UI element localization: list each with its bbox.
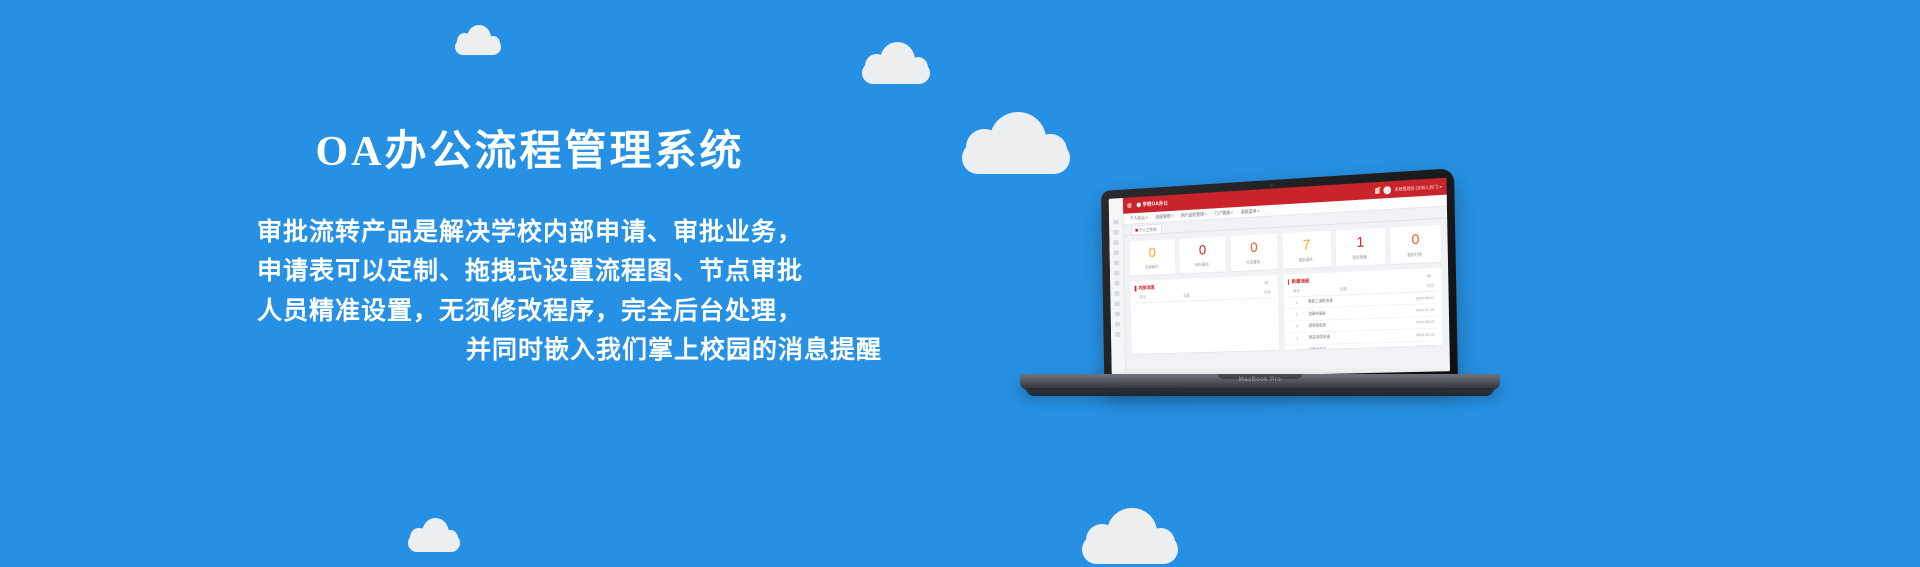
stat-card[interactable]: 0 我的归档 :: [1390, 225, 1441, 264]
column-header: 标题: [1151, 291, 1223, 303]
stat-card[interactable]: 7 我的请求 :: [1282, 231, 1331, 269]
laptop-screen: 学校OA办公 系统管理员 (未知人员门) ▾ 个人办公▾ 流程管理▾ 用户组织管…: [1109, 178, 1450, 379]
logo-icon: [1137, 202, 1141, 207]
row-index: 2: [1288, 308, 1306, 321]
panel-new-processes: 新建流程 ⋮: [1283, 268, 1443, 350]
row-index: 4: [1289, 332, 1307, 344]
hero-copy: OA办公流程管理系统 审批流转产品是解决学校内部申请、审批业务， 申请表可以定制…: [170, 126, 890, 371]
dashboard-icon: [1135, 229, 1137, 232]
panel-title: 新建流程: [1292, 277, 1310, 285]
bell-icon[interactable]: [1375, 187, 1380, 193]
hero-paragraph-line: 并同时嵌入我们掌上校园的消息提醒: [170, 331, 890, 371]
row-title[interactable]: 采购申请单: [1306, 342, 1383, 350]
stat-value: 0: [1232, 239, 1276, 256]
menu-item-personal[interactable]: 个人办公▾: [1130, 215, 1148, 222]
hero-paragraph-line: 审批流转产品是解决学校内部申请、审批业务，: [170, 213, 890, 253]
row-index: 3: [1288, 320, 1306, 333]
stat-card[interactable]: 0 抄送事项 :: [1230, 234, 1278, 272]
topbar-actions: 系统管理员 (未知人员门) ▾: [1375, 182, 1442, 194]
column-header: 序号: [1135, 294, 1151, 304]
hero-paragraph: 审批流转产品是解决学校内部申请、审批业务， 申请表可以定制、拖拽式设置流程图、节…: [170, 213, 890, 371]
brand-label: 学校OA办公: [1142, 200, 1168, 208]
laptop-mockup: 学校OA办公 系统管理员 (未知人员门) ▾ 个人办公▾ 流程管理▾ 用户组织管…: [1020, 168, 1500, 413]
menu-item-users[interactable]: 用户组织管理▾: [1181, 211, 1207, 218]
device-model-label: MacBook Pro: [1239, 377, 1282, 383]
laptop-foot: [1026, 388, 1494, 396]
user-menu-label[interactable]: 系统管理员 (未知人员门) ▾: [1395, 183, 1442, 192]
avatar[interactable]: [1383, 186, 1391, 194]
app-brand: 学校OA办公: [1137, 200, 1168, 208]
panel-body: 序号 标题 时间 1教职工请假申请2024-08-012用章申请单2024-07…: [1283, 282, 1442, 350]
page-title: OA办公流程管理系统: [170, 126, 890, 179]
panel-title: 内部消息: [1138, 284, 1154, 291]
stat-card-row: 0 未读邮件 : 0 待办事项 : 0 抄送事项 :: [1130, 225, 1442, 276]
row-index: 5: [1289, 344, 1307, 349]
stat-value: 0: [1131, 245, 1173, 261]
stat-label: 我的草稿 :: [1338, 254, 1384, 262]
cloud-large-top-right-icon: [962, 112, 1070, 174]
stat-value: 7: [1284, 237, 1329, 254]
cloud-mid-top-icon: [862, 42, 930, 84]
hero-paragraph-line: 人员精准设置，无须修改程序，完全后台处理，: [170, 292, 890, 332]
stat-label: 我的归档 :: [1392, 251, 1439, 259]
tab-label: 个人工作台: [1139, 226, 1157, 233]
panel-internal-messages: 内部消息 ⋮: [1130, 275, 1279, 354]
webcam-icon: [1269, 184, 1272, 187]
stat-label: 抄送事项 :: [1232, 259, 1276, 267]
menu-item-process[interactable]: 流程管理▾: [1155, 213, 1173, 220]
refresh-icon[interactable]: [1427, 274, 1430, 278]
cloud-bottom-right-icon: [1082, 508, 1178, 564]
panel-tools: ⋮: [1265, 281, 1274, 285]
stat-value: 0: [1392, 231, 1439, 248]
processes-table: 序号 标题 时间 1教职工请假申请2024-08-012用章申请单2024-07…: [1288, 282, 1439, 350]
more-icon[interactable]: ⋮: [1271, 281, 1274, 284]
stat-value: 1: [1337, 234, 1383, 251]
menu-item-portal[interactable]: 门户管理▾: [1215, 210, 1233, 217]
panel-body: 序号 标题 时间: [1131, 288, 1280, 354]
stat-value: 0: [1181, 242, 1224, 258]
menu-item-system[interactable]: 系统菜单▾: [1241, 208, 1260, 215]
stat-card[interactable]: 1 我的草稿 :: [1336, 228, 1386, 267]
app-workarea: 0 未读邮件 : 0 待办事项 : 0 抄送事项 :: [1124, 219, 1450, 379]
panel-tools: ⋮: [1427, 274, 1437, 278]
stat-label: 未读邮件 :: [1132, 263, 1174, 271]
hero-paragraph-line: 申请表可以定制、拖拽式设置流程图、节点审批: [170, 252, 890, 292]
hero-banner: OA办公流程管理系统 审批流转产品是解决学校内部申请、审批业务， 申请表可以定制…: [0, 0, 1920, 567]
processes-table-body: 1教职工请假申请2024-08-012用章申请单2024-07-253报销审批单…: [1288, 291, 1439, 349]
refresh-icon[interactable]: [1265, 281, 1268, 284]
cloud-bottom-left-icon: [408, 518, 460, 552]
stat-card[interactable]: 0 待办事项 :: [1179, 236, 1226, 273]
tab-dashboard[interactable]: 个人工作台: [1131, 224, 1162, 235]
row-index: 1: [1288, 296, 1306, 309]
panel-row: 内部消息 ⋮: [1130, 268, 1442, 354]
column-header: 时间: [1223, 289, 1274, 300]
stat-card[interactable]: 0 未读邮件 :: [1130, 239, 1176, 276]
stat-label: 待办事项 :: [1182, 261, 1225, 269]
accent-bar: [1288, 279, 1289, 285]
accent-bar: [1135, 285, 1136, 291]
more-icon[interactable]: ⋮: [1433, 274, 1436, 278]
cloud-small-top-left-icon: [455, 25, 501, 55]
row-date: 2024-05-20: [1383, 341, 1438, 350]
app-main: 学校OA办公 系统管理员 (未知人员门) ▾ 个人办公▾ 流程管理▾ 用户组织管…: [1123, 178, 1450, 379]
laptop-lid: 学校OA办公 系统管理员 (未知人员门) ▾ 个人办公▾ 流程管理▾ 用户组织管…: [1101, 168, 1458, 389]
stat-label: 我的请求 :: [1285, 256, 1330, 264]
hamburger-icon[interactable]: [1127, 203, 1131, 208]
